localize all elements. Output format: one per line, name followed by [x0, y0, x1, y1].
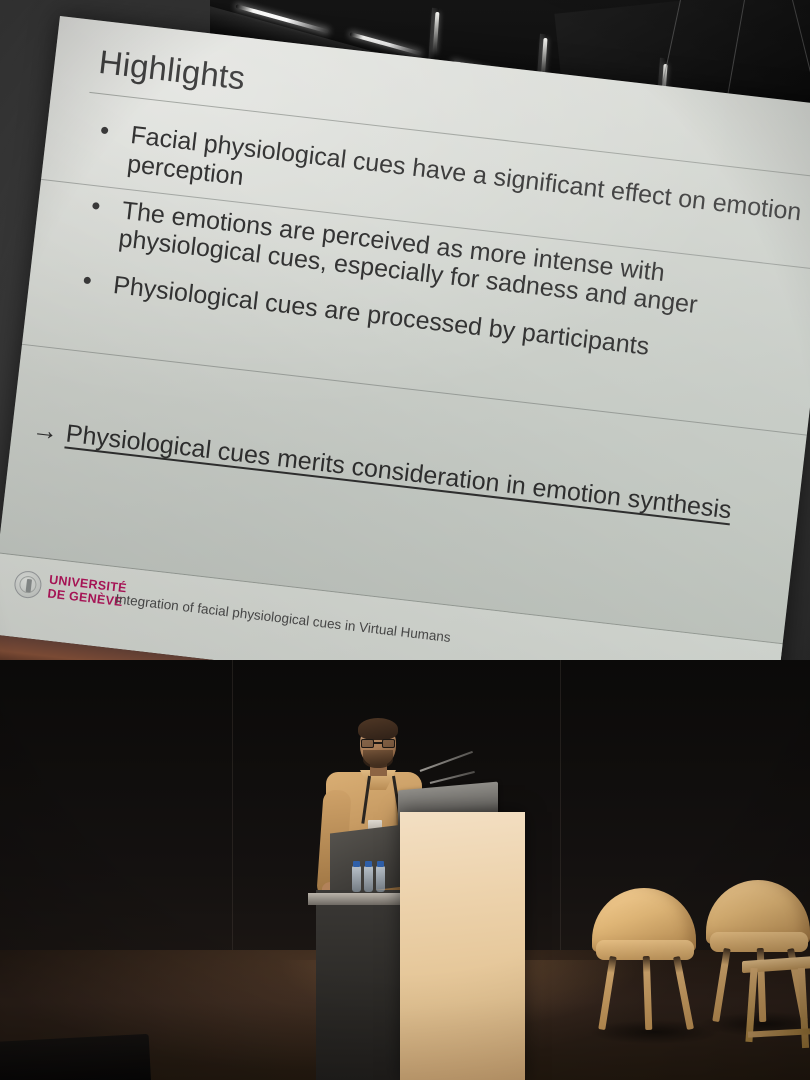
- water-bottle: [352, 866, 361, 892]
- glasses-lens: [382, 739, 395, 748]
- projection-screen: Highlights Facial physiological cues hav…: [0, 16, 810, 743]
- bullet-dot-icon: [92, 202, 100, 210]
- right-arrow-icon: →: [31, 414, 60, 447]
- water-bottle: [376, 866, 385, 892]
- glasses-icon: [361, 739, 395, 748]
- bottle-cap: [365, 861, 372, 867]
- bullet-dot-icon: [101, 127, 109, 135]
- backdrop-seam: [232, 660, 233, 960]
- water-bottle: [364, 866, 373, 892]
- lectern-side-panel: [316, 890, 402, 1080]
- lectern-shelf: [308, 893, 404, 905]
- glasses-lens: [361, 739, 374, 748]
- bottle-cap: [353, 861, 360, 867]
- conference-photo: Highlights Facial physiological cues hav…: [0, 0, 810, 1080]
- bullet-dot-icon: [83, 277, 91, 285]
- bottle-cap: [377, 861, 384, 867]
- conclusion-text: Physiological cues merits consideration …: [64, 420, 733, 525]
- slide-conclusion: →Physiological cues merits consideration…: [30, 414, 785, 532]
- unige-seal-icon: [13, 570, 43, 600]
- foreground-object: [0, 1034, 151, 1080]
- slide-title: Highlights: [97, 43, 247, 98]
- footer-subtitle: Integration of facial physiological cues…: [115, 591, 452, 645]
- lectern-front-panel: [400, 812, 525, 1080]
- speaker-hair: [358, 718, 398, 740]
- speaker-beard: [363, 750, 393, 768]
- glasses-bridge: [374, 742, 382, 744]
- slide: Highlights Facial physiological cues hav…: [0, 16, 810, 725]
- slide-bullet-list: Facial physiological cues have a signifi…: [64, 116, 810, 396]
- unige-logo: UNIVERSITÉ DE GENÈVE: [13, 570, 127, 610]
- backdrop-seam: [560, 660, 561, 960]
